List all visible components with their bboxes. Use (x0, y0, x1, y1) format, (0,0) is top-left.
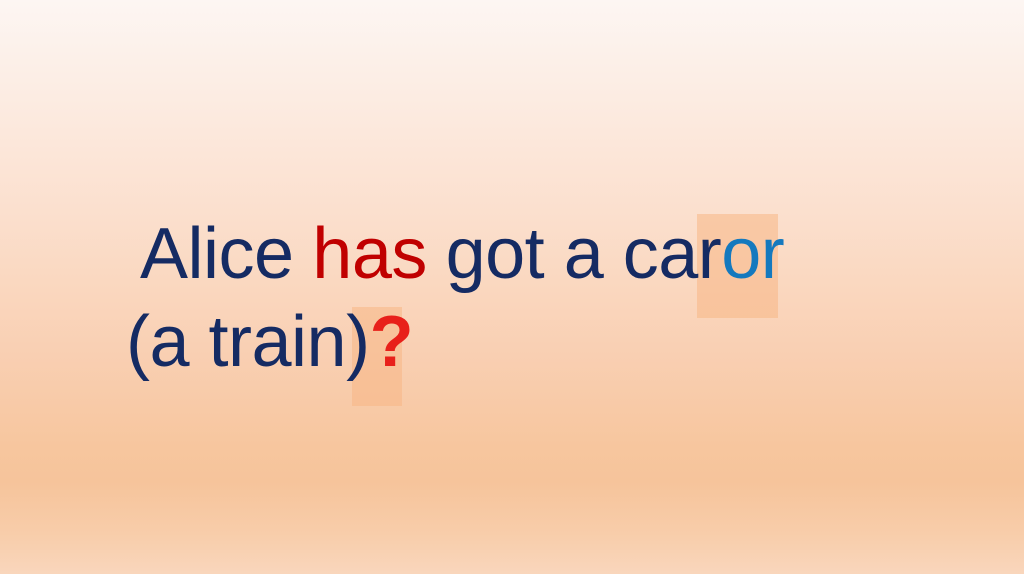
word-or: or (721, 214, 784, 294)
question-mark: ? (370, 302, 413, 382)
slide-text-line-2: (a train)? (118, 306, 918, 394)
slide-text-block: Alicehasgot a caror (a train)? (118, 218, 918, 394)
slide-canvas: Alicehasgot a caror (a train)? (0, 0, 1024, 574)
slide-text-line-1: Alicehasgot a caror (118, 218, 918, 306)
word-has: has (312, 214, 427, 294)
word-alice: Alice (140, 214, 294, 294)
phrase-a-train: (a train) (126, 302, 370, 382)
phrase-got-a-car: got a car (446, 214, 722, 294)
